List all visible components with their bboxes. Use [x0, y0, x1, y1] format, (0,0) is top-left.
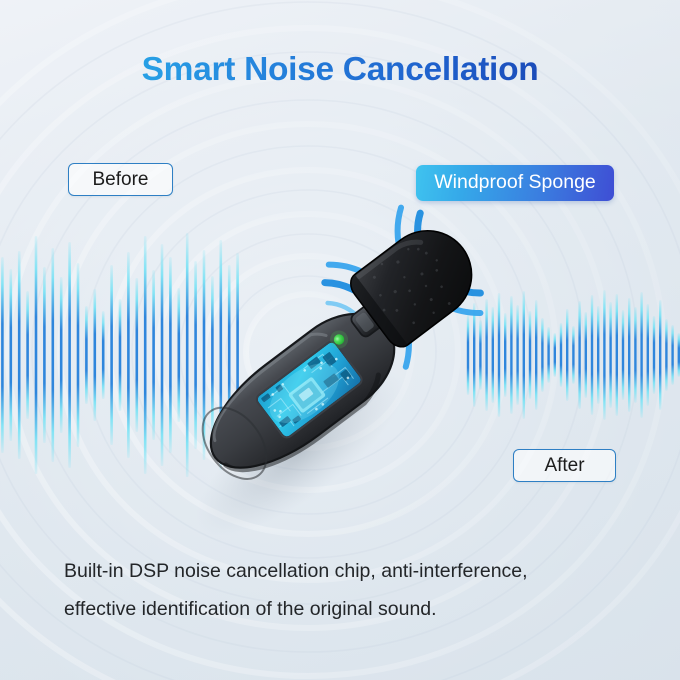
- label-before: Before: [68, 163, 173, 196]
- page-title: Smart Noise Cancellation: [0, 51, 680, 90]
- label-windproof-sponge: Windproof Sponge: [416, 165, 614, 201]
- caption: Built-in DSP noise cancellation chip, an…: [64, 552, 624, 628]
- caption-line-1: Built-in DSP noise cancellation chip, an…: [64, 552, 624, 590]
- product-infographic: Smart Noise Cancellation Before Windproo…: [0, 0, 680, 680]
- label-after: After: [513, 449, 616, 482]
- caption-line-2: effective identification of the original…: [64, 590, 624, 628]
